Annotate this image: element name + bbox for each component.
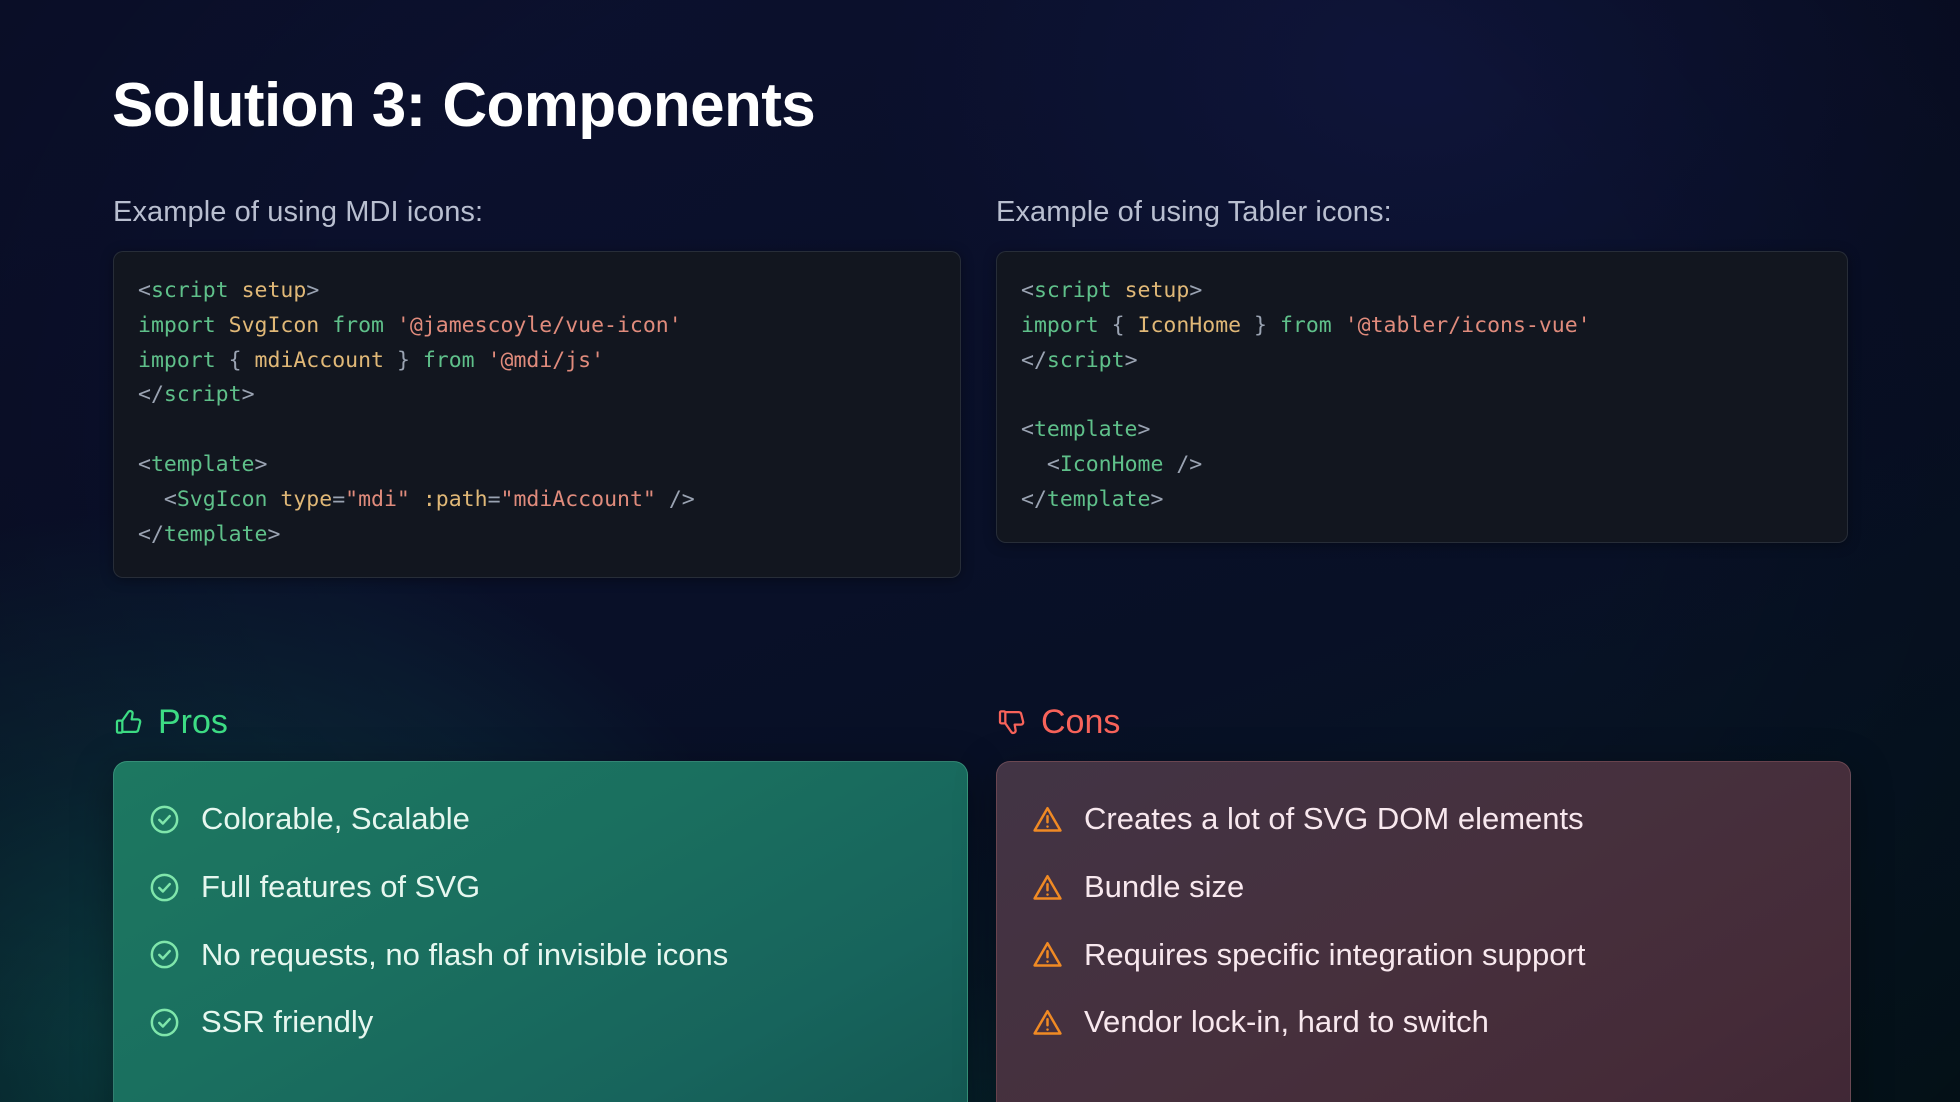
list-item-label: Vendor lock-in, hard to switch [1084,1003,1489,1042]
code-token: { [1112,313,1125,338]
code-token: /> [669,487,695,512]
pros-heading: Pros [113,705,968,739]
cons-section: Cons Creates a lot of SVG DOM elementsBu… [996,705,1851,1102]
code-token: from [1280,313,1332,338]
list-item: Bundle size [1031,868,1816,907]
code-line: </script> [138,378,936,413]
pros-section: Pros Colorable, ScalableFull features of… [113,705,968,1102]
code-token: { [229,348,242,373]
cons-list: Creates a lot of SVG DOM elementsBundle … [1031,800,1816,1042]
list-item-label: SSR friendly [201,1003,373,1042]
code-token: script [1034,278,1112,303]
circle-check-icon [148,803,181,836]
example-label-mdi: Example of using MDI icons: [113,196,961,229]
code-token: < [1021,417,1034,442]
pros-heading-label: Pros [158,705,228,739]
list-item: Requires specific integration support [1031,936,1816,975]
cons-heading: Cons [996,705,1851,739]
code-token: IconHome [1060,452,1164,477]
code-token [384,348,397,373]
code-token [1112,278,1125,303]
alert-triangle-icon [1031,803,1064,836]
code-token [410,348,423,373]
example-column-tabler: Example of using Tabler icons: <script s… [996,196,1848,543]
alert-triangle-icon [1031,1006,1064,1039]
code-token: import [138,313,216,338]
code-token [319,313,332,338]
alert-triangle-icon [1031,938,1064,971]
code-token: </ [1021,487,1047,512]
cons-card: Creates a lot of SVG DOM elementsBundle … [996,761,1851,1102]
code-block-mdi[interactable]: <script setup>import SvgIcon from '@jame… [113,251,961,578]
code-line [1021,378,1823,413]
list-item-label: Requires specific integration support [1084,936,1585,975]
code-token: < [1047,452,1060,477]
code-token: > [1150,487,1163,512]
circle-check-icon [148,1006,181,1039]
code-token: < [164,487,177,512]
code-token: IconHome [1138,313,1242,338]
code-token: template [164,522,268,547]
code-token: > [242,382,255,407]
code-line: import { IconHome } from '@tabler/icons-… [1021,309,1823,344]
code-token: SvgIcon [229,313,320,338]
code-token: > [1189,278,1202,303]
list-item-label: Bundle size [1084,868,1244,907]
code-token: from [332,313,384,338]
code-token: "mdiAccount" [501,487,656,512]
code-token: > [1125,348,1138,373]
code-token: > [306,278,319,303]
code-token [216,313,229,338]
code-token [216,348,229,373]
thumb-down-icon [996,706,1028,738]
list-item-label: Creates a lot of SVG DOM elements [1084,800,1584,839]
code-token: > [1138,417,1151,442]
list-item: No requests, no flash of invisible icons [148,936,933,975]
code-line: <SvgIcon type="mdi" :path="mdiAccount" /… [138,483,936,518]
code-block-tabler[interactable]: <script setup>import { IconHome } from '… [996,251,1848,543]
code-line: </script> [1021,344,1823,379]
code-token: template [151,452,255,477]
code-line: <script setup> [1021,274,1823,309]
list-item: Vendor lock-in, hard to switch [1031,1003,1816,1042]
code-token [138,487,164,512]
code-token: </ [138,522,164,547]
list-item: Full features of SVG [148,868,933,907]
code-token [229,278,242,303]
code-token: script [164,382,242,407]
code-token: < [138,452,151,477]
circle-check-icon [148,871,181,904]
thumb-up-icon [113,706,145,738]
code-token: script [1047,348,1125,373]
list-item-label: Full features of SVG [201,868,480,907]
code-token: script [151,278,229,303]
code-token [242,348,255,373]
circle-check-icon [148,938,181,971]
code-line: <template> [1021,413,1823,448]
code-token: template [1047,487,1151,512]
code-token: "mdi" [345,487,410,512]
code-token [475,348,488,373]
cons-heading-label: Cons [1041,705,1120,739]
code-line: <template> [138,448,936,483]
code-token: setup [1125,278,1190,303]
example-label-tabler: Example of using Tabler icons: [996,196,1848,229]
code-line [138,413,936,448]
code-token: from [423,348,475,373]
code-token: > [267,522,280,547]
code-token [1099,313,1112,338]
code-token [1021,452,1047,477]
code-line: <script setup> [138,274,936,309]
list-item: SSR friendly [148,1003,933,1042]
pros-list: Colorable, ScalableFull features of SVGN… [148,800,933,1042]
code-token: > [255,452,268,477]
code-token: SvgIcon [177,487,268,512]
code-token: = [332,487,345,512]
code-token: </ [1021,348,1047,373]
code-token: template [1034,417,1138,442]
code-token: '@jamescoyle/vue-icon' [397,313,682,338]
code-token: /> [1176,452,1202,477]
code-token: mdiAccount [255,348,384,373]
alert-triangle-icon [1031,871,1064,904]
list-item-label: No requests, no flash of invisible icons [201,936,728,975]
code-token: = [488,487,501,512]
code-token [410,487,423,512]
code-token: < [1021,278,1034,303]
code-line: import { mdiAccount } from '@mdi/js' [138,344,936,379]
code-token: '@tabler/icons-vue' [1345,313,1591,338]
code-token: < [138,278,151,303]
code-token: import [1021,313,1099,338]
code-token: :path [423,487,488,512]
code-token [384,313,397,338]
code-token [1241,313,1254,338]
list-item-label: Colorable, Scalable [201,800,470,839]
code-token: type [280,487,332,512]
code-token: } [1254,313,1267,338]
code-token: '@mdi/js' [488,348,605,373]
slide-stage: Solution 3: Components Example of using … [0,0,1960,1102]
pros-card: Colorable, ScalableFull features of SVGN… [113,761,968,1102]
page-title: Solution 3: Components [112,72,815,140]
code-token [1332,313,1345,338]
code-token: } [397,348,410,373]
code-line: <IconHome /> [1021,448,1823,483]
code-line: </template> [138,518,936,553]
code-token: </ [138,382,164,407]
code-token [267,487,280,512]
example-column-mdi: Example of using MDI icons: <script setu… [113,196,961,578]
code-token [1125,313,1138,338]
code-token: import [138,348,216,373]
code-line: import SvgIcon from '@jamescoyle/vue-ico… [138,309,936,344]
list-item: Colorable, Scalable [148,800,933,839]
code-line: </template> [1021,483,1823,518]
list-item: Creates a lot of SVG DOM elements [1031,800,1816,839]
code-token [656,487,669,512]
code-token [1267,313,1280,338]
code-token [1163,452,1176,477]
code-token: setup [242,278,307,303]
